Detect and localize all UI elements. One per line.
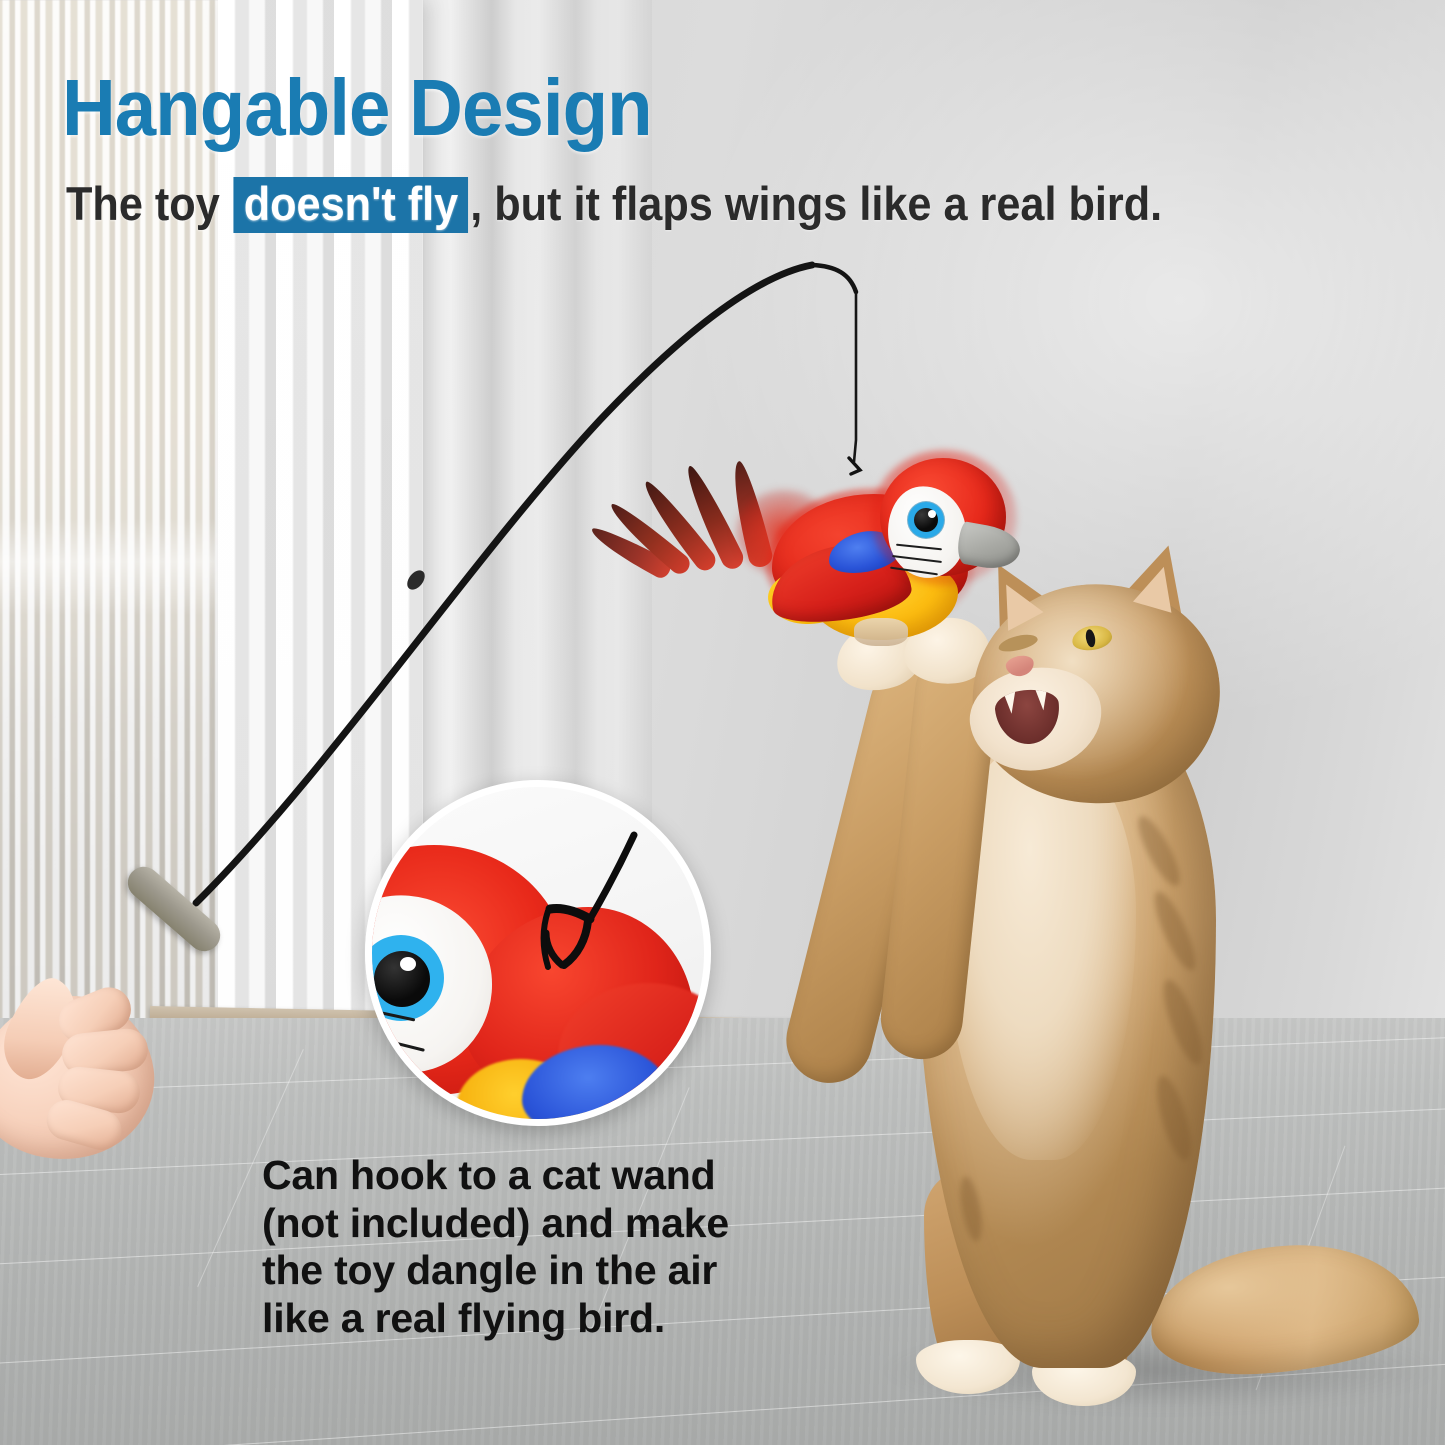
cat-tail <box>1146 1237 1422 1381</box>
feature-caption: Can hook to a cat wand (not included) an… <box>262 1152 729 1342</box>
cat-fang <box>1003 691 1017 714</box>
bird-eye-glint <box>928 510 936 518</box>
subtitle: The toy doesn't fly, but it flaps wings … <box>66 176 1162 233</box>
bird-feet <box>854 618 908 646</box>
cat-pupil <box>1085 629 1097 648</box>
caption-line: (not included) and make <box>262 1200 729 1248</box>
hook-closeup-inset <box>365 780 711 1126</box>
caption-line: Can hook to a cat wand <box>262 1152 729 1200</box>
cat-hind-paw <box>916 1340 1020 1394</box>
subtitle-highlight: doesn't fly <box>234 177 469 233</box>
tabby-cat <box>820 540 1440 1445</box>
caption-line: the toy dangle in the air <box>262 1247 729 1295</box>
subtitle-before: The toy <box>66 177 220 230</box>
page-title: Hangable Design <box>62 62 652 154</box>
inset-cord-knot <box>372 787 711 1126</box>
plush-parrot-toy[interactable] <box>640 450 1010 665</box>
caption-line: like a real flying bird. <box>262 1295 729 1343</box>
human-hand <box>0 975 186 1175</box>
product-infographic: Hangable Design The toy doesn't fly, but… <box>0 0 1445 1445</box>
subtitle-after: , but it flaps wings like a real bird. <box>470 177 1162 230</box>
cat-fang <box>1035 688 1049 711</box>
